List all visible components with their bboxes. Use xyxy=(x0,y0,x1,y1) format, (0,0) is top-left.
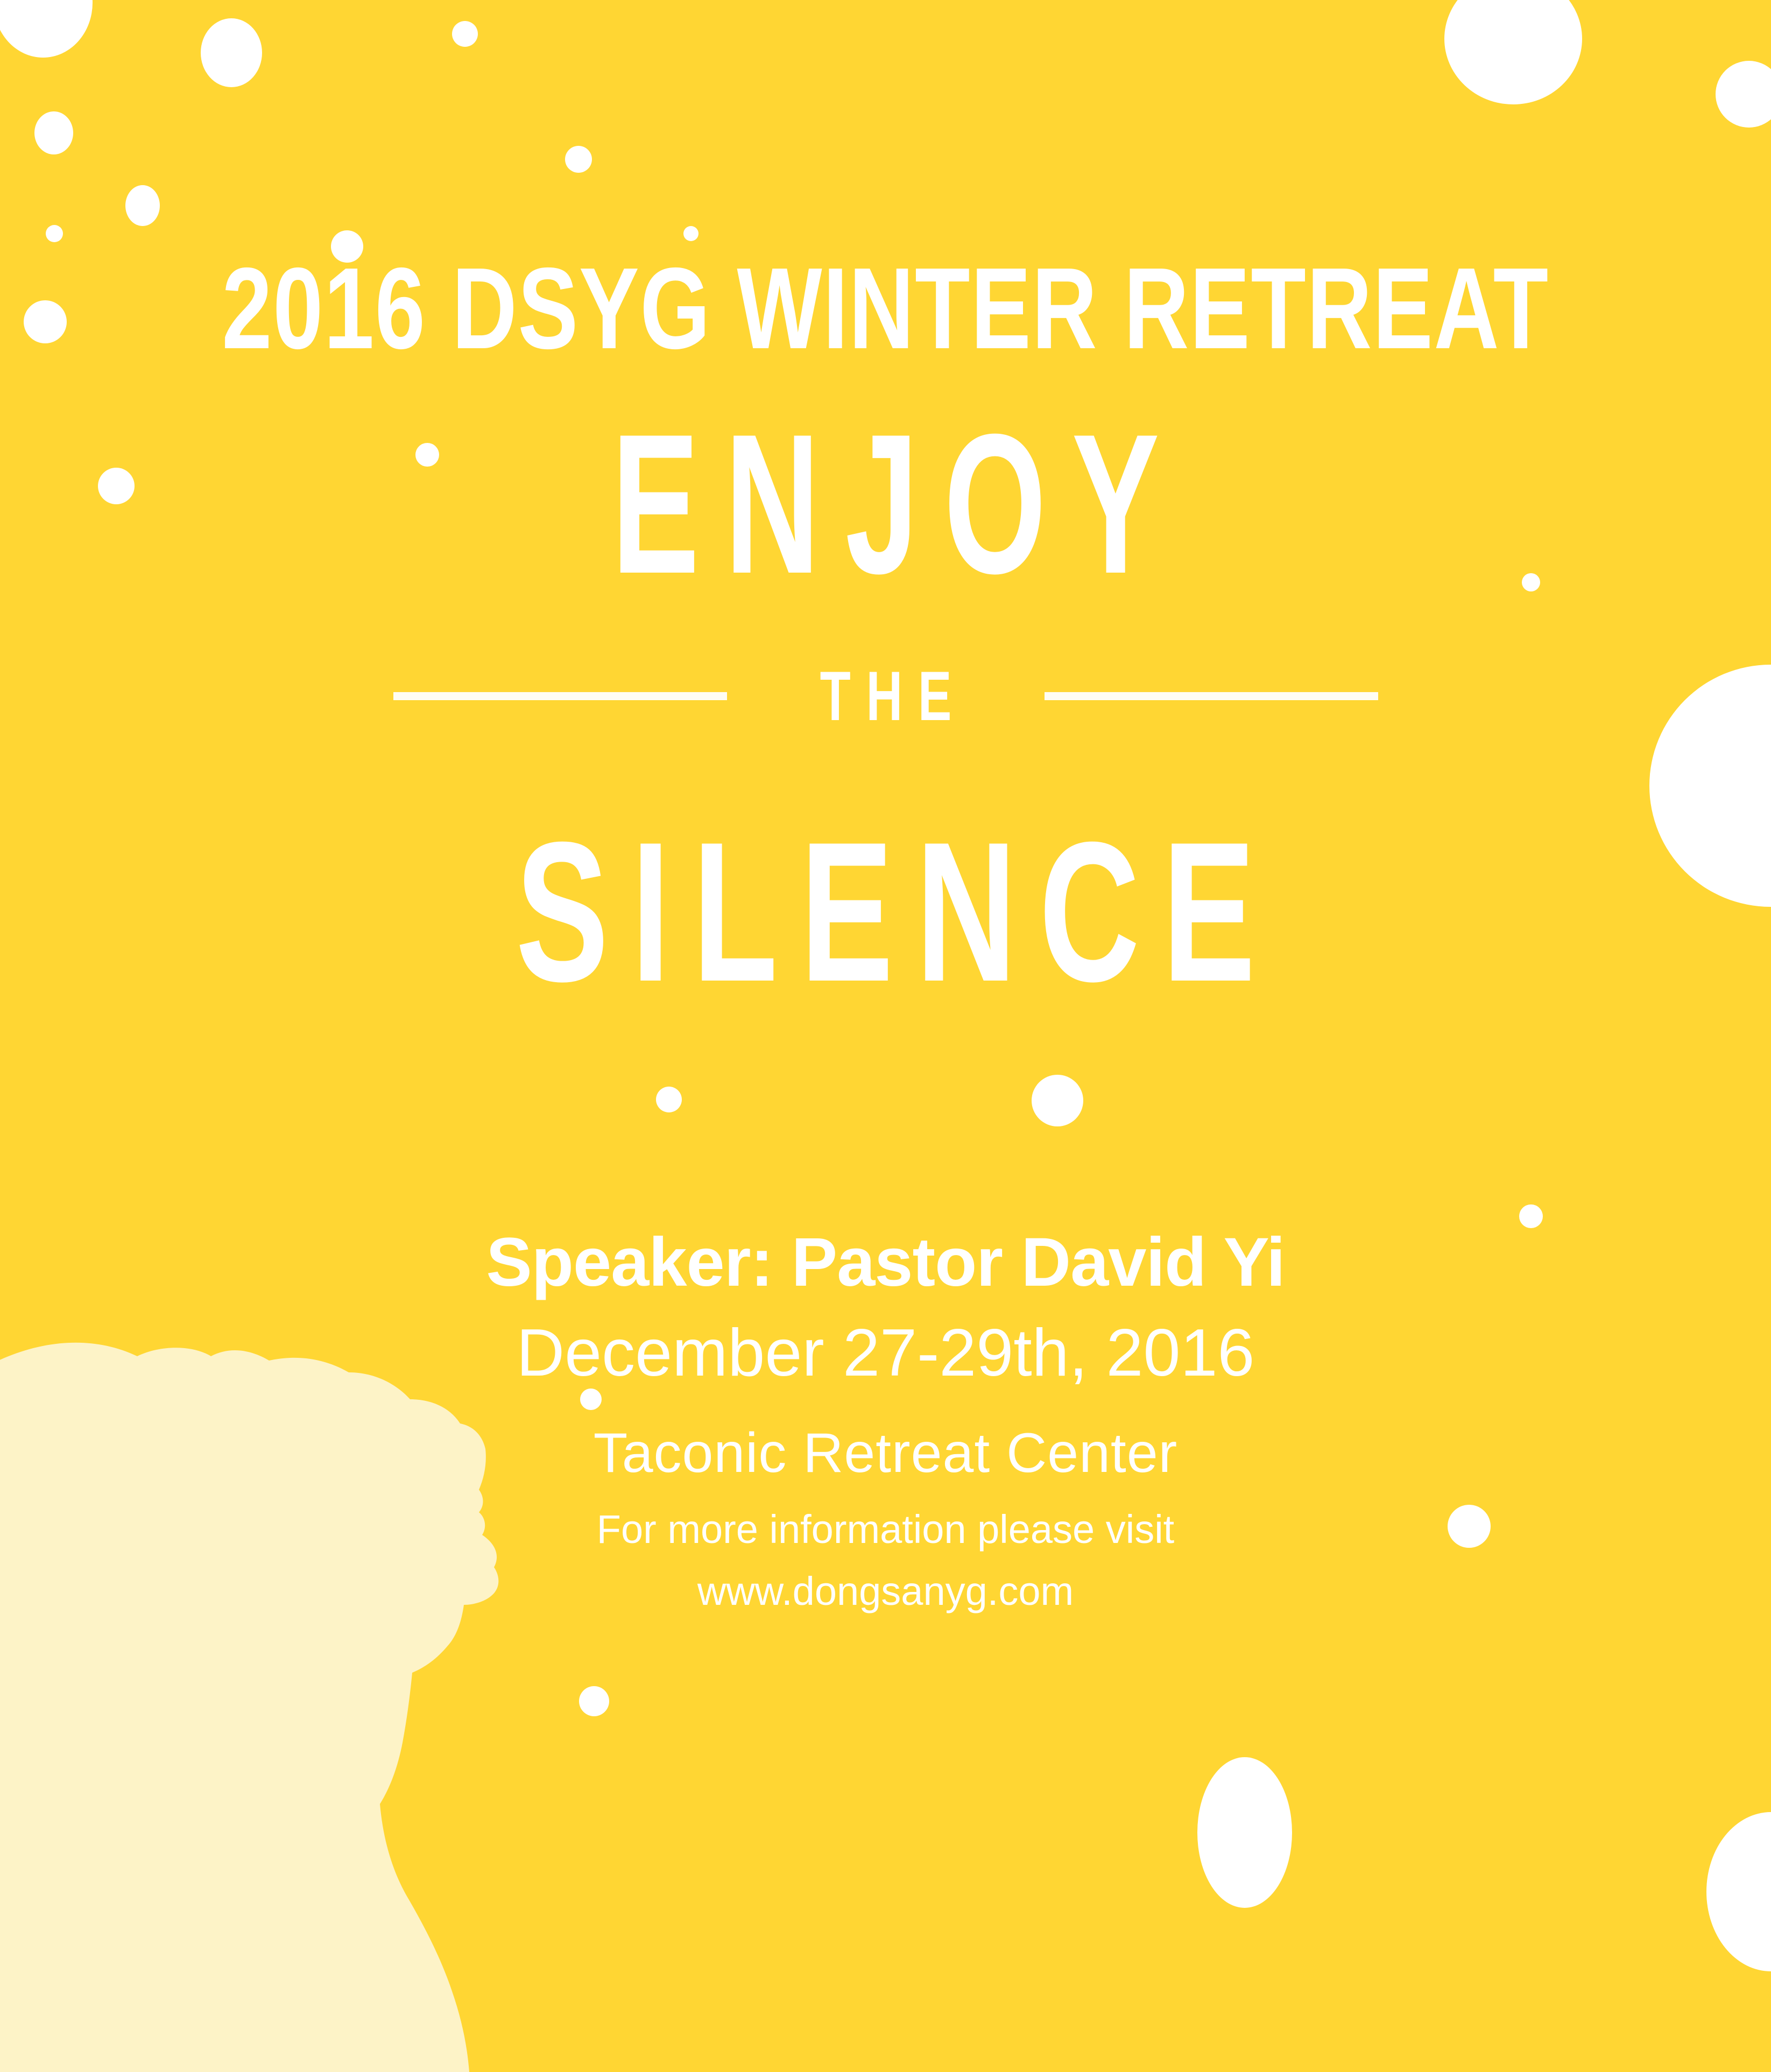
divider-rule-left xyxy=(393,692,727,700)
more-information-line: For more information please visit xyxy=(0,1510,1771,1549)
date-line: December 27-29th, 2016 xyxy=(0,1320,1771,1386)
venue-line: Taconic Retreat Center xyxy=(0,1425,1771,1481)
headline-word-silence: SILENCE xyxy=(266,813,1506,1012)
divider-rule-right xyxy=(1045,692,1378,700)
retreat-eyebrow-title: 2016 DSYG WINTER RETREAT xyxy=(195,250,1576,366)
headline-word-enjoy: ENJOY xyxy=(301,405,1470,604)
headline-word-the: THE xyxy=(804,661,966,731)
speaker-line: Speaker: Pastor David Yi xyxy=(0,1228,1771,1297)
website-line[interactable]: www.dongsanyg.com xyxy=(0,1571,1771,1611)
headline-the-row: THE xyxy=(0,661,1771,731)
poster-canvas: 2016 DSYG WINTER RETREAT ENJOY THE SILEN… xyxy=(0,0,1771,2072)
